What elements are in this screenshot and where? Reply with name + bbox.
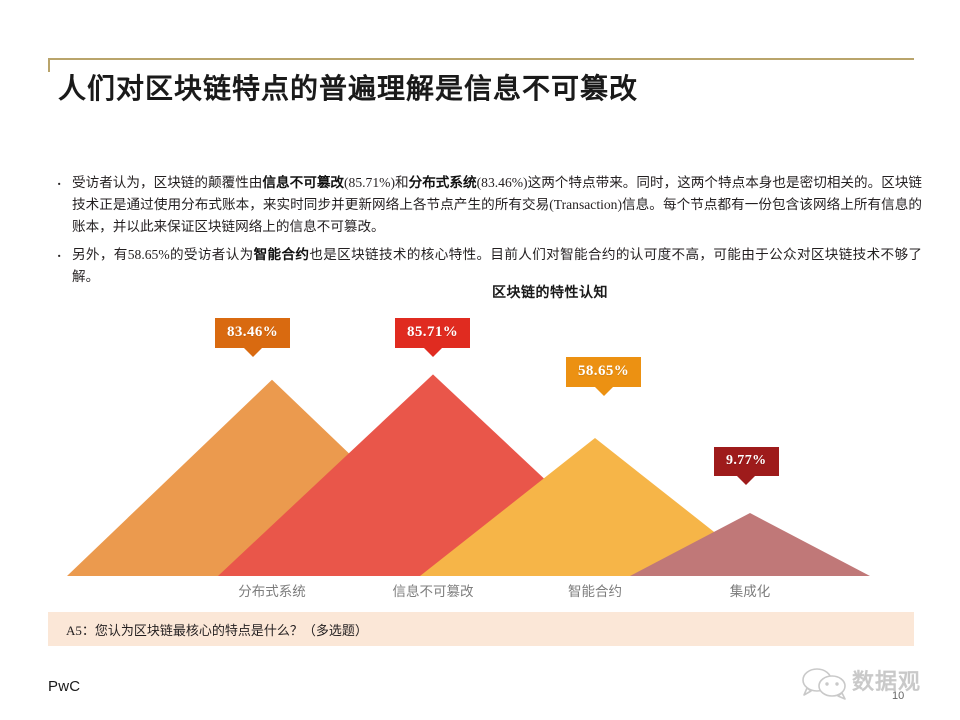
watermark-text: 数据观 <box>852 664 921 696</box>
bullet-emphasis: 分布式系统 <box>409 175 477 190</box>
bullet-list: 受访者认为，区块链的颠覆性由信息不可篡改(85.71%)和分布式系统(83.46… <box>50 172 922 294</box>
page-title: 人们对区块链特点的普遍理解是信息不可篡改 <box>58 72 918 107</box>
title-divider-rule <box>48 58 914 60</box>
value-callout-distributed: 83.46% <box>215 318 290 348</box>
value-callout-label: 58.65% <box>578 363 629 379</box>
page-number: 10 <box>892 690 904 702</box>
chart-plot-area <box>50 304 920 574</box>
chart-title-text: 区块链的特性认知 <box>492 286 608 301</box>
callout-tail-icon <box>737 476 755 485</box>
bullet-emphasis: 信息不可篡改 <box>262 175 344 190</box>
chart-category-label: 信息不可篡改 <box>393 580 474 600</box>
chart-category-label: 分布式系统 <box>238 580 306 600</box>
bullet-text: 另外，有58.65%的受访者认为 <box>72 247 254 262</box>
wechat-icon <box>800 666 848 700</box>
bullet-item: 受访者认为，区块链的颠覆性由信息不可篡改(85.71%)和分布式系统(83.46… <box>50 172 922 238</box>
value-callout-immutable: 85.71% <box>395 318 470 348</box>
chart-category-label: 智能合约 <box>568 580 622 600</box>
value-callout-label: 85.71% <box>407 324 458 340</box>
triangle-chart-svg <box>50 304 920 579</box>
value-callout-label: 83.46% <box>227 324 278 340</box>
bullet-text: (85.71%)和 <box>344 175 409 190</box>
bullet-text: 受访者认为，区块链的颠覆性由 <box>72 175 262 190</box>
chart-region: 区块链的特性认知 83.46% 85.71% 58.65% 9.77% 分布式系… <box>50 282 920 612</box>
watermark: 数据观 <box>800 660 950 704</box>
slide-canvas: 人们对区块链特点的普遍理解是信息不可篡改 受访者认为，区块链的颠覆性由信息不可篡… <box>0 0 960 720</box>
chart-category-label: 集成化 <box>730 580 771 600</box>
title-divider-tick <box>48 58 50 72</box>
value-callout-smartcontract: 58.65% <box>566 357 641 387</box>
chart-category-labels: 分布式系统信息不可篡改智能合约集成化 <box>50 580 920 604</box>
bullet-emphasis: 智能合约 <box>254 247 310 262</box>
survey-question-band: A5：您认为区块链最核心的特点是什么？（多选题） <box>48 612 914 646</box>
callout-tail-icon <box>595 387 613 396</box>
value-callout-label: 9.77% <box>726 453 767 468</box>
survey-question-text: A5：您认为区块链最核心的特点是什么？（多选题） <box>66 620 368 639</box>
chart-title: 区块链的特性认知 <box>50 282 920 302</box>
callout-tail-icon <box>424 348 442 357</box>
value-callout-integration: 9.77% <box>714 447 779 476</box>
pwc-logo: PwC <box>48 678 80 695</box>
callout-tail-icon <box>244 348 262 357</box>
